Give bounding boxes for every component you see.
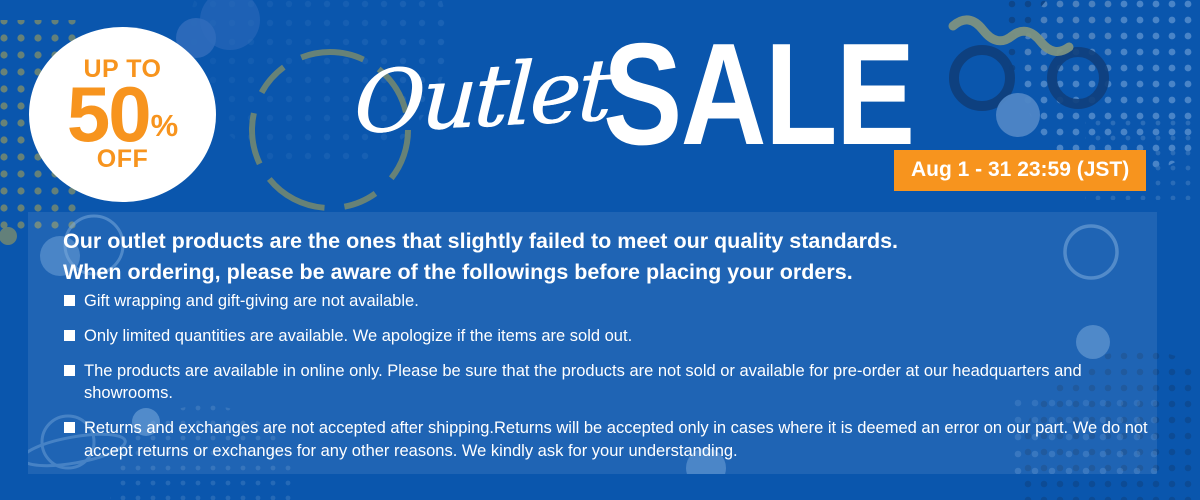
ring-dark-top-right-2 (1052, 52, 1104, 104)
banner-title: Outlet SALE (352, 32, 982, 157)
list-item: Only limited quantities are available. W… (64, 325, 1154, 348)
square-bullet-icon (64, 422, 75, 433)
list-item-text: Gift wrapping and gift-giving are not av… (84, 290, 1154, 313)
panel-ring-right (1065, 226, 1117, 278)
circle-light-1 (996, 93, 1040, 137)
list-item-text: Only limited quantities are available. W… (84, 325, 1154, 348)
badge-percent-sign: % (151, 110, 179, 141)
square-bullet-icon (64, 330, 75, 341)
title-bold-word: SALE (603, 32, 914, 157)
terms-panel: Our outlet products are the ones that sl… (28, 212, 1157, 474)
title-script-word: Outlet (352, 47, 612, 147)
terms-list: Gift wrapping and gift-giving are not av… (64, 290, 1154, 474)
badge-number: 50 (67, 83, 150, 145)
list-item-text: The products are available in online onl… (84, 360, 1154, 406)
circle-sage-left (0, 227, 17, 245)
intro-line-2: When ordering, please be aware of the fo… (63, 257, 898, 288)
circle-light-3 (200, 0, 260, 50)
halftone-sphere-top-right (1020, 0, 1200, 175)
list-item-text: Returns and exchanges are not accepted a… (84, 417, 1154, 463)
sale-period-badge: Aug 1 - 31 23:59 (JST) (894, 150, 1146, 191)
list-item: Gift wrapping and gift-giving are not av… (64, 290, 1154, 313)
list-item: The products are available in online onl… (64, 360, 1154, 406)
discount-badge: UP TO 50 % OFF (29, 27, 216, 202)
intro-line-1: Our outlet products are the ones that sl… (63, 226, 898, 257)
intro-text: Our outlet products are the ones that sl… (63, 226, 898, 289)
halftone-dots-dark-top-right (1000, 0, 1120, 70)
square-bullet-icon (64, 365, 75, 376)
badge-percent-row: 50 % (67, 83, 178, 145)
badge-off-label: OFF (97, 147, 149, 172)
square-bullet-icon (64, 295, 75, 306)
list-item: Returns and exchanges are not accepted a… (64, 417, 1154, 463)
outlet-sale-banner: UP TO 50 % OFF Outlet SALE Aug 1 - 31 23… (0, 0, 1200, 500)
